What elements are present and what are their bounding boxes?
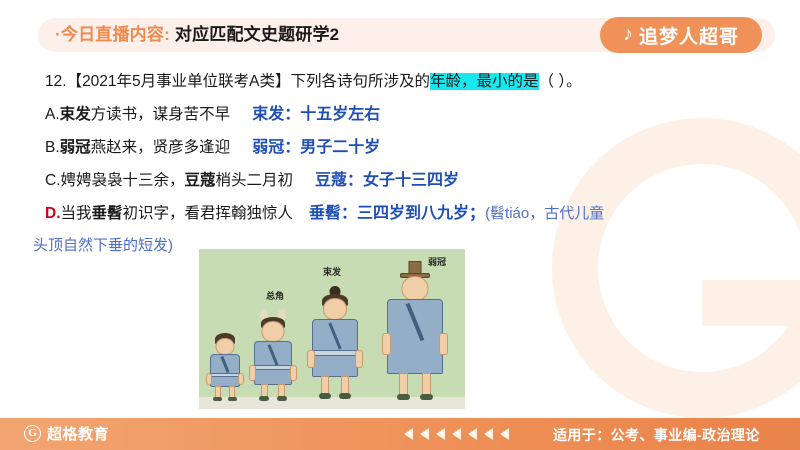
option-a[interactable]: A.束发方读书，谋身苦不早束发：十五岁左右 xyxy=(0,107,800,123)
option-c-text-before: 娉娉袅袅十三余， xyxy=(61,172,185,189)
option-c-letter: C. xyxy=(45,172,61,189)
option-b-annotation: 弱冠：男子二十岁 xyxy=(252,139,380,156)
figure-toddler xyxy=(207,333,243,401)
ancient-children-hairstyle-illustration: 总角 束发 弱冠 xyxy=(199,249,465,409)
music-note-icon: ♪ xyxy=(623,24,633,44)
option-d-letter: D. xyxy=(45,205,61,222)
option-a-annotation: 束发：十五岁左右 xyxy=(252,106,380,123)
option-a-term: 束发 xyxy=(60,106,91,123)
option-a-text: 方读书，谋身苦不早 xyxy=(91,106,231,123)
question-number: 12. xyxy=(45,73,67,90)
option-b-text: 燕赵来，贤彦多逢迎 xyxy=(91,139,231,156)
left-arrow-icon xyxy=(500,428,509,440)
zongjiao-shoe-right xyxy=(277,396,287,401)
ruoguan-leg-right xyxy=(422,373,431,395)
left-arrow-icon xyxy=(420,428,429,440)
shufa-robe xyxy=(312,319,358,377)
zongjiao-robe xyxy=(254,341,292,385)
option-c-annotation: 豆蔻：女子十三四岁 xyxy=(315,172,459,189)
chaoge-logo-icon: G xyxy=(24,425,41,442)
left-arrow-icon xyxy=(436,428,445,440)
option-b[interactable]: B.弱冠燕赵来，贤彦多逢迎弱冠：男子二十岁 xyxy=(0,140,800,156)
shufa-head xyxy=(323,298,347,320)
option-d[interactable]: D.当我垂髫初识字，看君挥翰独惊人垂髫：三四岁到八九岁；(髫tiáo，古代儿童 xyxy=(0,206,800,222)
option-b-term: 弱冠 xyxy=(60,139,91,156)
ruoguan-arm-left xyxy=(382,333,391,355)
shufa-shoe-right xyxy=(339,393,351,399)
option-c-term: 豆蔻 xyxy=(185,172,216,189)
shufa-arm-left xyxy=(307,350,315,368)
option-d-text-before: 当我 xyxy=(61,205,92,222)
header-label: 今日直播内容: xyxy=(61,25,170,44)
ruoguan-head xyxy=(402,276,429,301)
footer-logo: G 超格教育 xyxy=(24,423,109,444)
ruoguan-robe xyxy=(387,299,443,374)
footer-arrow-group xyxy=(404,428,509,440)
figure-zongjiao xyxy=(251,309,295,401)
shufa-belt xyxy=(312,350,358,356)
ruoguan-arm-right xyxy=(439,333,448,355)
toddler-shoe-left xyxy=(213,397,222,401)
zongjiao-head xyxy=(262,321,285,342)
left-arrow-icon xyxy=(468,428,477,440)
question-stem-highlight: 年龄，最小的是 xyxy=(430,73,539,90)
zongjiao-belt xyxy=(254,365,292,370)
left-arrow-icon xyxy=(484,428,493,440)
question-stem-before: 下列各诗句所涉及的 xyxy=(291,73,431,90)
ruoguan-shoe-right xyxy=(420,394,433,400)
question-stem: 12.【2021年5月事业单位联考A类】下列各诗句所涉及的年龄，最小的是（ ）。 xyxy=(0,74,800,90)
toddler-belt xyxy=(210,373,240,377)
header-topic: 对应匹配文史题研学2 xyxy=(175,25,339,44)
option-c[interactable]: C.娉娉袅袅十三余，豆蔻梢头二月初豆蔻：女子十三四岁 xyxy=(0,173,800,189)
shufa-shoe-left xyxy=(319,393,331,399)
toddler-head xyxy=(216,338,235,355)
ruoguan-leg-left xyxy=(399,373,408,395)
option-d-note: (髫tiáo，古代儿童 xyxy=(485,205,604,222)
shufa-leg-right xyxy=(341,376,349,394)
figure-ruoguan xyxy=(384,261,446,401)
option-d-annotation: 垂髫：三四岁到八九岁； xyxy=(309,205,485,222)
question-source: 【2021年5月事业单位联考A类】 xyxy=(67,73,291,90)
shufa-arm-right xyxy=(355,350,363,368)
toddler-arm-left xyxy=(206,373,212,385)
option-d-note-continued: 头顶自然下垂的短发) xyxy=(33,237,173,254)
left-arrow-icon xyxy=(404,428,413,440)
zongjiao-shoe-left xyxy=(259,396,269,401)
shufa-leg-left xyxy=(321,376,329,394)
figure-label-zongjiao: 总角 xyxy=(266,289,284,302)
figure-label-shufa: 束发 xyxy=(323,265,341,278)
option-a-letter: A. xyxy=(45,106,60,123)
footer-logo-text: 超格教育 xyxy=(47,423,109,444)
figure-label-ruoguan: 弱冠 xyxy=(428,255,446,268)
ruoguan-shoe-left xyxy=(397,394,410,400)
question-stem-after: （ ）。 xyxy=(539,73,582,90)
toddler-shoe-right xyxy=(228,397,237,401)
brand-badge[interactable]: ♪ 追梦人超哥 xyxy=(600,17,762,53)
question-content: 12.【2021年5月事业单位联考A类】下列各诗句所涉及的年龄，最小的是（ ）。… xyxy=(0,62,800,253)
option-d-term: 垂髫 xyxy=(92,205,123,222)
watermark-bar xyxy=(702,280,800,326)
left-arrow-icon xyxy=(452,428,461,440)
footer-bar: G 超格教育 适用于：公考、事业编-政治理论 xyxy=(0,418,800,450)
zongjiao-arm-left xyxy=(249,365,256,381)
header-title: ·今日直播内容: 对应匹配文史题研学2 xyxy=(55,19,339,51)
zongjiao-arm-right xyxy=(290,365,297,381)
brand-name: 追梦人超哥 xyxy=(639,22,739,49)
footer-tagline: 适用于：公考、事业编-政治理论 xyxy=(553,425,760,445)
option-b-letter: B. xyxy=(45,139,60,156)
figure-shufa xyxy=(309,286,361,401)
toddler-arm-right xyxy=(238,373,244,385)
option-d-text: 初识字，看君挥翰独惊人 xyxy=(123,205,294,222)
option-c-text: 梢头二月初 xyxy=(216,172,294,189)
